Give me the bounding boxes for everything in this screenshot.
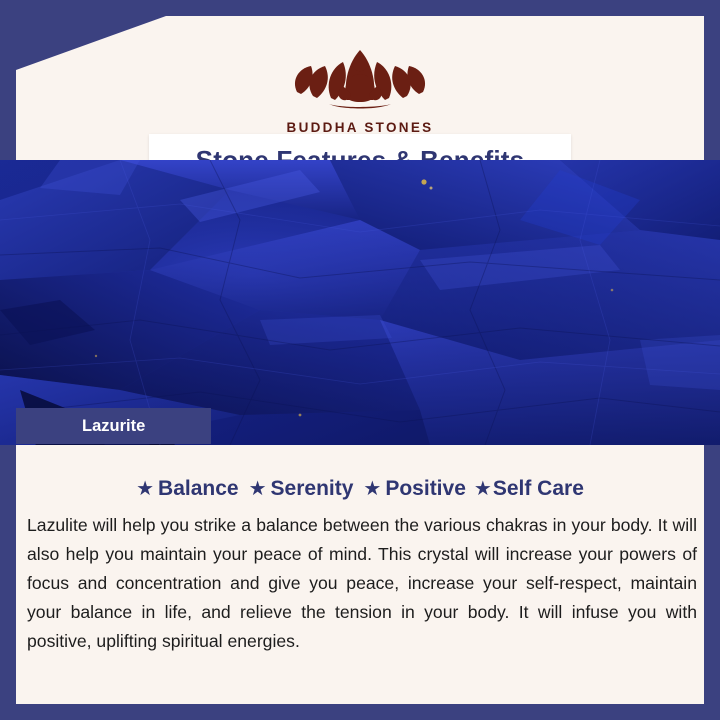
keyword-list: ★Balance★Serenity★Positive★Self Care <box>16 476 704 501</box>
brand-logo: BUDDHA STONES <box>16 30 704 135</box>
poster-page: BUDDHA STONES Stone Features & Benefits <box>0 0 720 720</box>
star-icon: ★ <box>136 476 154 501</box>
lotus-meditating-buddha-icon <box>285 30 435 116</box>
keyword-balance: Balance <box>158 477 239 501</box>
photo-caption: Lazurite <box>16 408 211 444</box>
brand-name: BUDDHA STONES <box>16 120 704 135</box>
keyword-positive: Positive <box>385 477 466 501</box>
keyword-self-care: Self Care <box>493 477 584 501</box>
benefits-paragraph: Lazulite will help you strike a balance … <box>27 511 697 656</box>
keyword-serenity: Serenity <box>271 477 354 501</box>
photo-caption-label: Lazurite <box>16 417 145 436</box>
stone-photo <box>0 160 720 445</box>
lazurite-raw-stone-photo <box>0 160 720 445</box>
star-icon: ★ <box>474 476 492 501</box>
benefits-section: ★Balance★Serenity★Positive★Self Care Laz… <box>16 445 704 704</box>
star-icon: ★ <box>363 476 381 501</box>
star-icon: ★ <box>249 476 267 501</box>
